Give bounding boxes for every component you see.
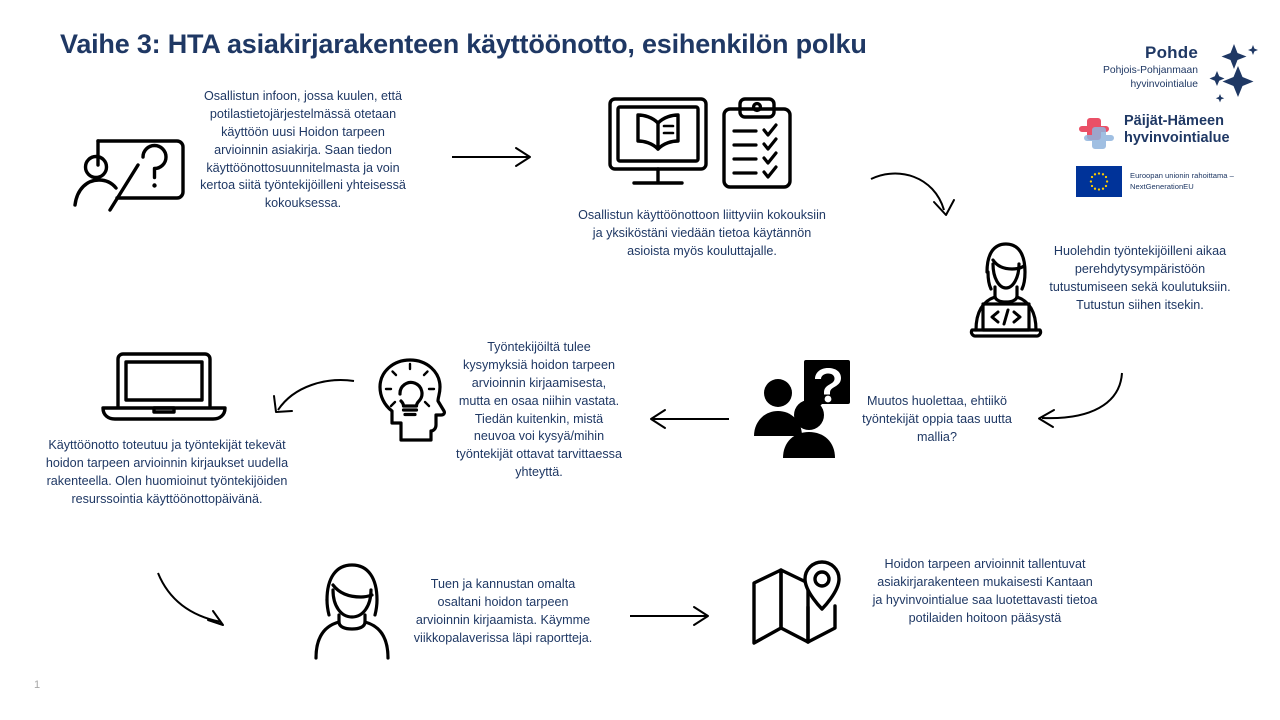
callout-step-7: Tuen ja kannustan omalta osaltani hoidon… <box>410 576 596 648</box>
page-number: 1 <box>34 679 40 691</box>
arrow-right-1-icon <box>450 140 540 174</box>
paijat-hame-logo-line-1: Päijät-Hämeen <box>1124 113 1230 130</box>
callout-step-2: Osallistun käyttöönottoon liittyviin kok… <box>578 207 826 261</box>
two-people-question-bubble-icon <box>752 358 852 458</box>
woman-avatar-icon <box>310 558 394 658</box>
callout-step-4: Muutos huolettaa, ehtiikö työntekijät op… <box>848 393 1026 447</box>
person-presenting-question-board-icon <box>72 122 196 214</box>
pohde-logo-subtitle-2: hyvinvointialue <box>1103 79 1198 92</box>
paijat-hame-logo: Päijät-Hämeen hyvinvointialue <box>1076 112 1256 154</box>
arrow-curve-left-icon <box>266 378 356 426</box>
callout-step-1: Osallistun infoon, jossa kuulen, että po… <box>196 88 410 213</box>
arrow-curve-down-left-icon <box>1036 370 1126 430</box>
arrow-right-7-icon <box>628 599 716 633</box>
pohde-logo-name: Pohde <box>1103 44 1198 63</box>
callout-step-3: Huolehdin työntekijöilleni aikaa perehdy… <box>1036 243 1244 315</box>
callout-step-5: Työntekijöiltä tulee kysymyksiä hoidon t… <box>456 339 622 482</box>
paijat-hame-logo-line-2: hyvinvointialue <box>1124 130 1230 147</box>
eu-flag-icon <box>1076 166 1122 197</box>
cross-flower-icon <box>1076 114 1118 152</box>
map-pin-icon <box>750 558 860 650</box>
four-point-stars-icon <box>1204 42 1260 104</box>
slide-canvas: Vaihe 3: HTA asiakirjarakenteen käyttöön… <box>0 0 1280 720</box>
eu-logo-line-2: NextGenerationEU <box>1130 181 1234 192</box>
eu-logo-line-1: Euroopan unionin rahoittama – <box>1130 170 1234 181</box>
head-lightbulb-icon <box>378 358 460 442</box>
callout-step-8: Hoidon tarpeen arvioinnit tallentuvat as… <box>872 556 1098 628</box>
arrow-curve-down-right-2-icon <box>155 570 245 634</box>
pohde-logo-subtitle-1: Pohjois-Pohjanmaan <box>1103 65 1198 78</box>
pohde-logo: Pohde Pohjois-Pohjanmaan hyvinvointialue <box>1076 44 1256 102</box>
callout-step-6: Käyttöönotto toteutuu ja työntekijät tek… <box>42 437 292 509</box>
arrow-left-4-icon <box>645 402 731 436</box>
laptop-icon <box>100 348 228 426</box>
page-title: Vaihe 3: HTA asiakirjarakenteen käyttöön… <box>60 28 1060 60</box>
monitor-book-checklist-icon <box>606 95 806 195</box>
eu-funding-logo: Euroopan unionin rahoittama – NextGenera… <box>1076 166 1261 198</box>
arrow-curve-down-right-icon <box>868 168 968 224</box>
